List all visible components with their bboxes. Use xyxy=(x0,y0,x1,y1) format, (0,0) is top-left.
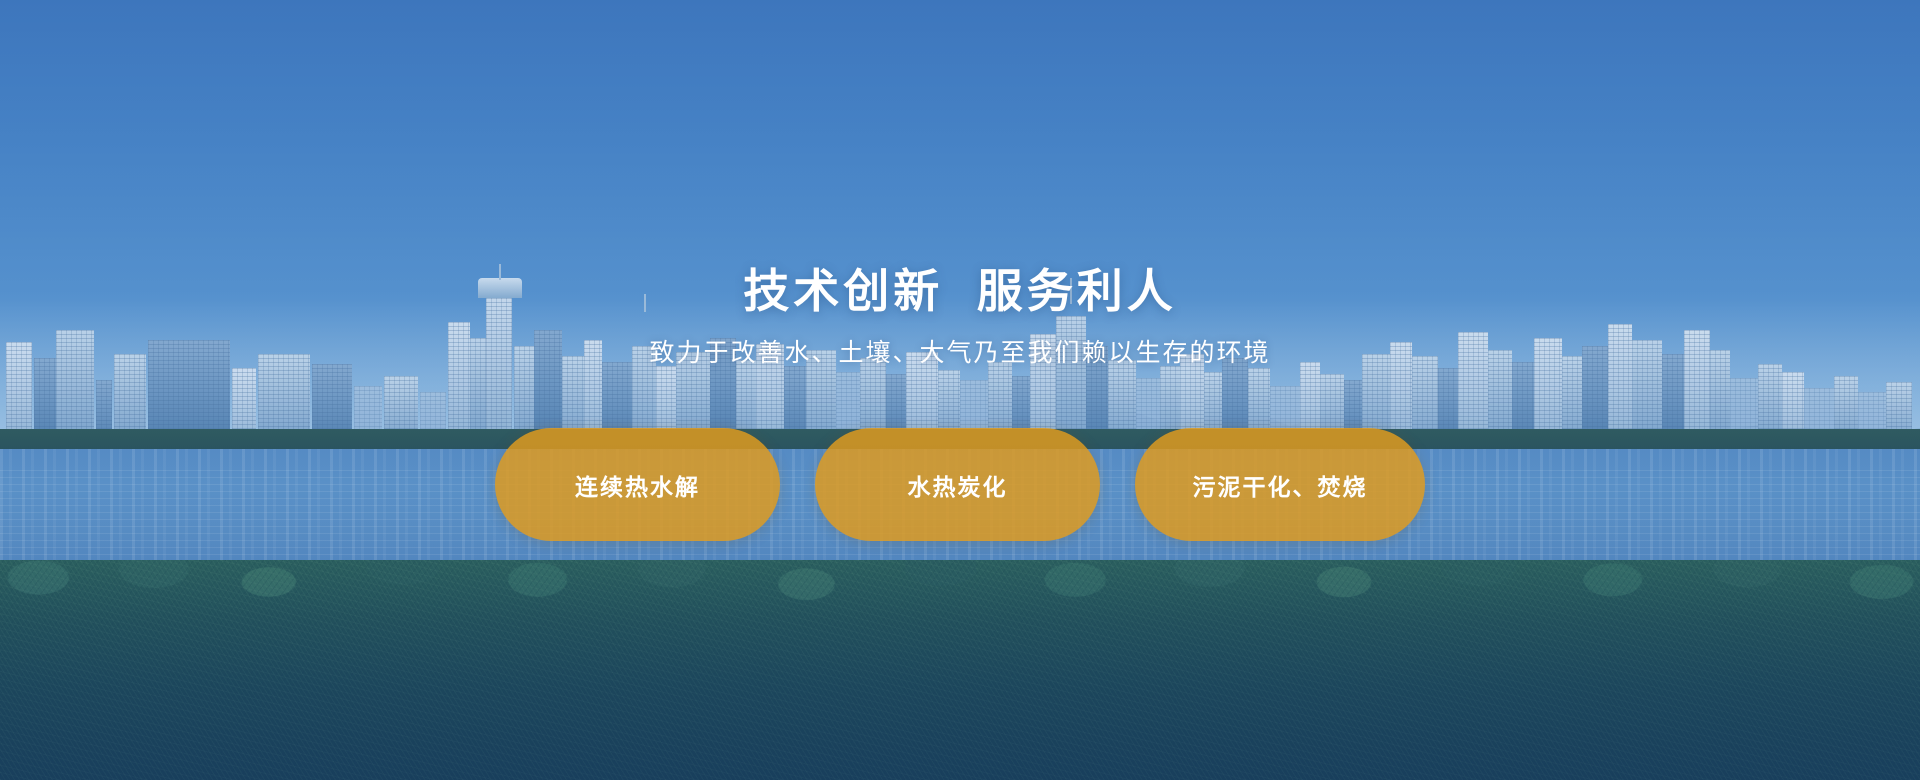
hero-banner: 技术创新 服务利人 致力于改善水、土壤、大气乃至我们赖以生存的环境 连续热水解 … xyxy=(0,0,1920,780)
cta-button-continuous-thermal-hydrolysis[interactable]: 连续热水解 xyxy=(495,428,780,541)
page-title: 技术创新 服务利人 xyxy=(743,268,1177,314)
cta-button-hydrothermal-carbonization[interactable]: 水热炭化 xyxy=(815,428,1100,541)
hero-content: 技术创新 服务利人 致力于改善水、土壤、大气乃至我们赖以生存的环境 连续热水解 … xyxy=(0,0,1920,780)
page-subtitle: 致力于改善水、土壤、大气乃至我们赖以生存的环境 xyxy=(649,341,1270,366)
cta-button-sludge-drying-incineration[interactable]: 污泥干化、焚烧 xyxy=(1135,428,1425,541)
cta-button-row: 连续热水解 水热炭化 污泥干化、焚烧 xyxy=(495,428,1425,541)
